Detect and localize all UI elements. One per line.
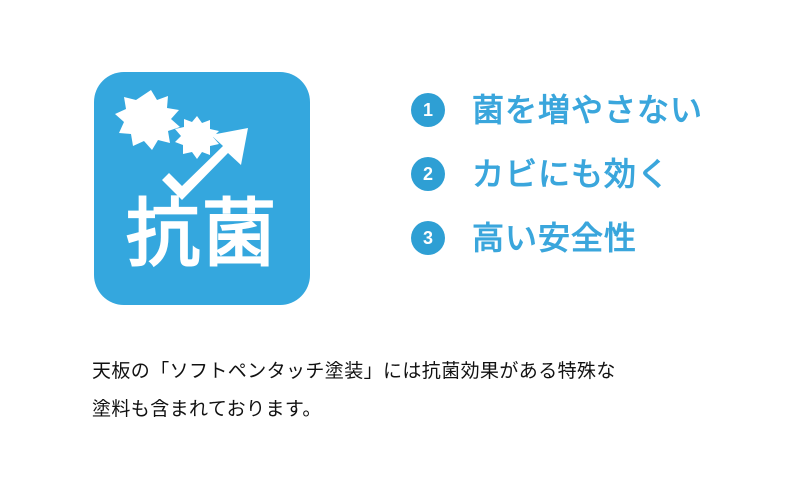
caption-line-1: 天板の「ソフトペンタッチ塗装」には抗菌効果がある特殊な [92, 352, 752, 390]
antibacterial-badge: 抗菌 [94, 72, 310, 305]
feature-label-2: カビにも効く [472, 157, 670, 191]
germ-burst-upward-arrow-icon [94, 80, 310, 205]
feature-label-1: 菌を増やさない [472, 93, 703, 127]
feature-item-1: 1 菌を増やさない [411, 86, 771, 134]
badge-label: 抗菌 [94, 192, 310, 276]
caption-block: 天板の「ソフトペンタッチ塗装」には抗菌効果がある特殊な 塗料も含まれております。 [92, 352, 752, 428]
feature-item-3: 3 高い安全性 [411, 214, 771, 262]
feature-number-badge-1: 1 [411, 93, 445, 127]
feature-item-2: 2 カビにも効く [411, 150, 771, 198]
feature-label-3: 高い安全性 [472, 221, 637, 255]
feature-number-badge-3: 3 [411, 221, 445, 255]
feature-number-badge-2: 2 [411, 157, 445, 191]
caption-line-2: 塗料も含まれております。 [92, 390, 752, 428]
feature-list: 1 菌を増やさない 2 カビにも効く 3 高い安全性 [411, 86, 771, 262]
top-section: 抗菌 1 菌を増やさない 2 カビにも効く 3 高い安全性 [0, 0, 800, 330]
promo-panel: 抗菌 1 菌を増やさない 2 カビにも効く 3 高い安全性 天板の「ソフトペンタ… [0, 0, 800, 495]
